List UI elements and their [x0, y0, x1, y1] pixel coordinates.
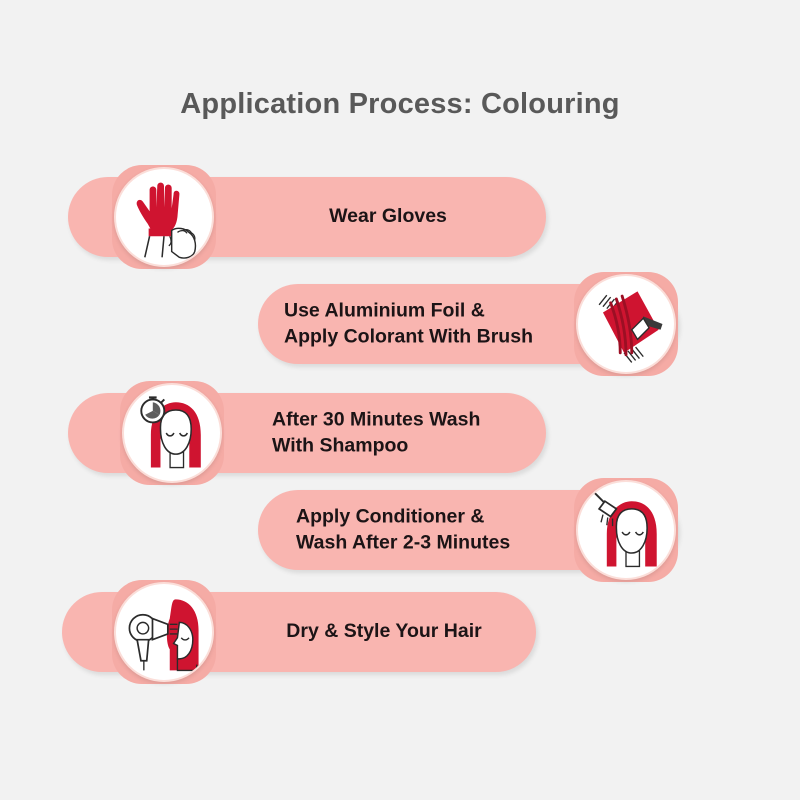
step-badge-1[interactable]: [112, 165, 216, 269]
step-row-3: After 30 Minutes Wash With Shampoo: [68, 381, 548, 485]
step-row-1: Wear Gloves: [68, 165, 548, 269]
step-badge-3[interactable]: [120, 381, 224, 485]
step-label-2: Use Aluminium Foil & Apply Colorant With…: [284, 298, 584, 349]
step-badge-5[interactable]: [112, 580, 216, 684]
hairdryer-woman-icon: [114, 582, 214, 682]
step-label-5: Dry & Style Your Hair: [234, 619, 534, 645]
step-row-4: Apply Conditioner & Wash After 2-3 Minut…: [258, 478, 696, 582]
page-title: Application Process: Colouring: [0, 88, 800, 121]
glove-icon: [114, 167, 214, 267]
shower-woman-icon: [576, 480, 676, 580]
step-badge-4[interactable]: [574, 478, 678, 582]
step-badge-2[interactable]: [574, 272, 678, 376]
stopwatch-woman-icon: [122, 383, 222, 483]
step-label-4: Apply Conditioner & Wash After 2-3 Minut…: [296, 504, 596, 555]
step-row-2: Use Aluminium Foil & Apply Colorant With…: [258, 272, 696, 376]
foil-brush-icon: [576, 274, 676, 374]
step-label-3: After 30 Minutes Wash With Shampoo: [272, 407, 562, 458]
infographic-canvas: Application Process: Colouring Wear Glov…: [0, 0, 800, 800]
step-label-1: Wear Gloves: [238, 204, 538, 230]
step-row-5: Dry & Style Your Hair: [62, 580, 542, 684]
